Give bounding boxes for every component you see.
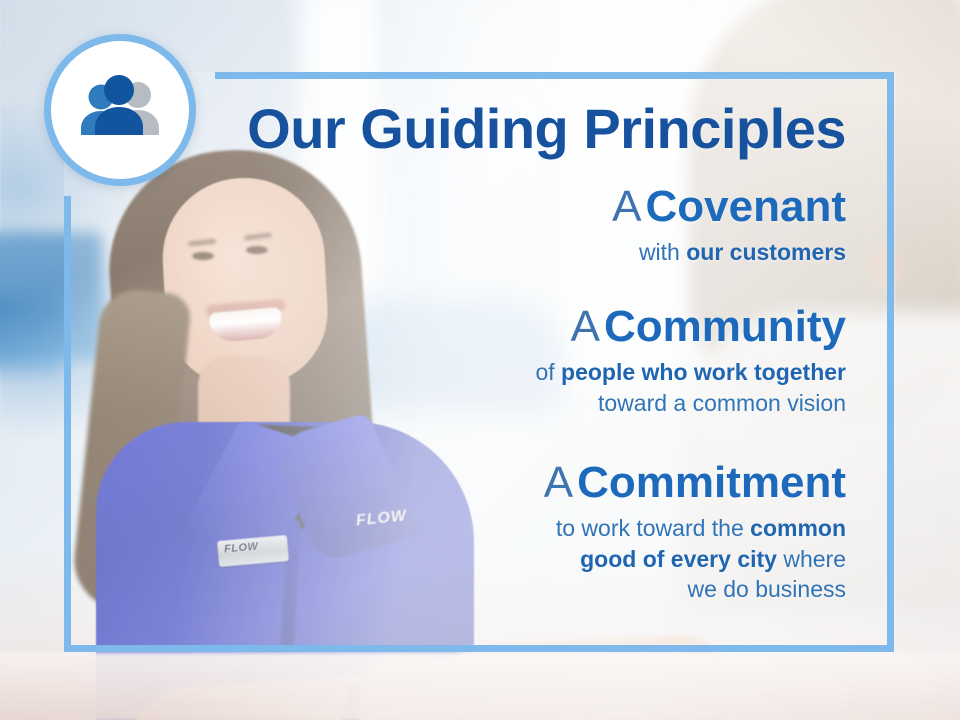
text-content: Our Guiding Principles ACovenant with ou… — [90, 72, 870, 652]
subtext-line: good of every city where — [544, 544, 846, 574]
principle-heading: ACommunity — [535, 304, 846, 350]
principle-article: A — [571, 302, 600, 351]
principle-commitment: ACommitment to work toward the commongoo… — [544, 460, 846, 604]
subtext-line: of people who work together — [535, 357, 846, 387]
subtext-run: toward a common vision — [598, 390, 846, 416]
subtext-run: with — [639, 239, 686, 265]
subtext-line: we do business — [544, 574, 846, 604]
subtext-emphasis: people who work together — [561, 359, 846, 385]
principle-community: ACommunity of people who work togetherto… — [535, 304, 846, 418]
principle-subtext: with our customers — [612, 237, 846, 267]
principle-subtext: of people who work togethertoward a comm… — [535, 357, 846, 418]
subtext-run: where — [777, 546, 846, 572]
principle-covenant: ACovenant with our customers — [612, 184, 846, 268]
subtext-run: to work toward the — [556, 515, 750, 541]
background-display-panel — [0, 300, 62, 374]
principle-article: A — [544, 458, 573, 507]
frame-border-right — [887, 72, 894, 652]
subtext-run: we do business — [687, 576, 846, 602]
subtext-emphasis: common — [750, 515, 846, 541]
principle-article: A — [612, 182, 641, 231]
subtext-emphasis: good of every city — [580, 546, 777, 572]
principle-heading: ACovenant — [612, 184, 846, 230]
subtext-line: to work toward the common — [544, 513, 846, 543]
principle-keyword: Community — [604, 302, 846, 351]
page-title: Our Guiding Principles — [247, 101, 846, 157]
frame-border-left — [64, 196, 71, 652]
subtext-emphasis: our customers — [686, 239, 846, 265]
principle-subtext: to work toward the commongood of every c… — [544, 513, 846, 604]
principle-keyword: Commitment — [577, 458, 846, 507]
principle-keyword: Covenant — [646, 182, 846, 231]
subtext-run: of — [535, 359, 561, 385]
guiding-principles-graphic: FLOW FLOW Our G — [0, 0, 960, 720]
table-surface — [0, 652, 960, 720]
principle-heading: ACommitment — [544, 460, 846, 506]
subtext-line: toward a common vision — [535, 388, 846, 418]
subtext-line: with our customers — [612, 237, 846, 267]
